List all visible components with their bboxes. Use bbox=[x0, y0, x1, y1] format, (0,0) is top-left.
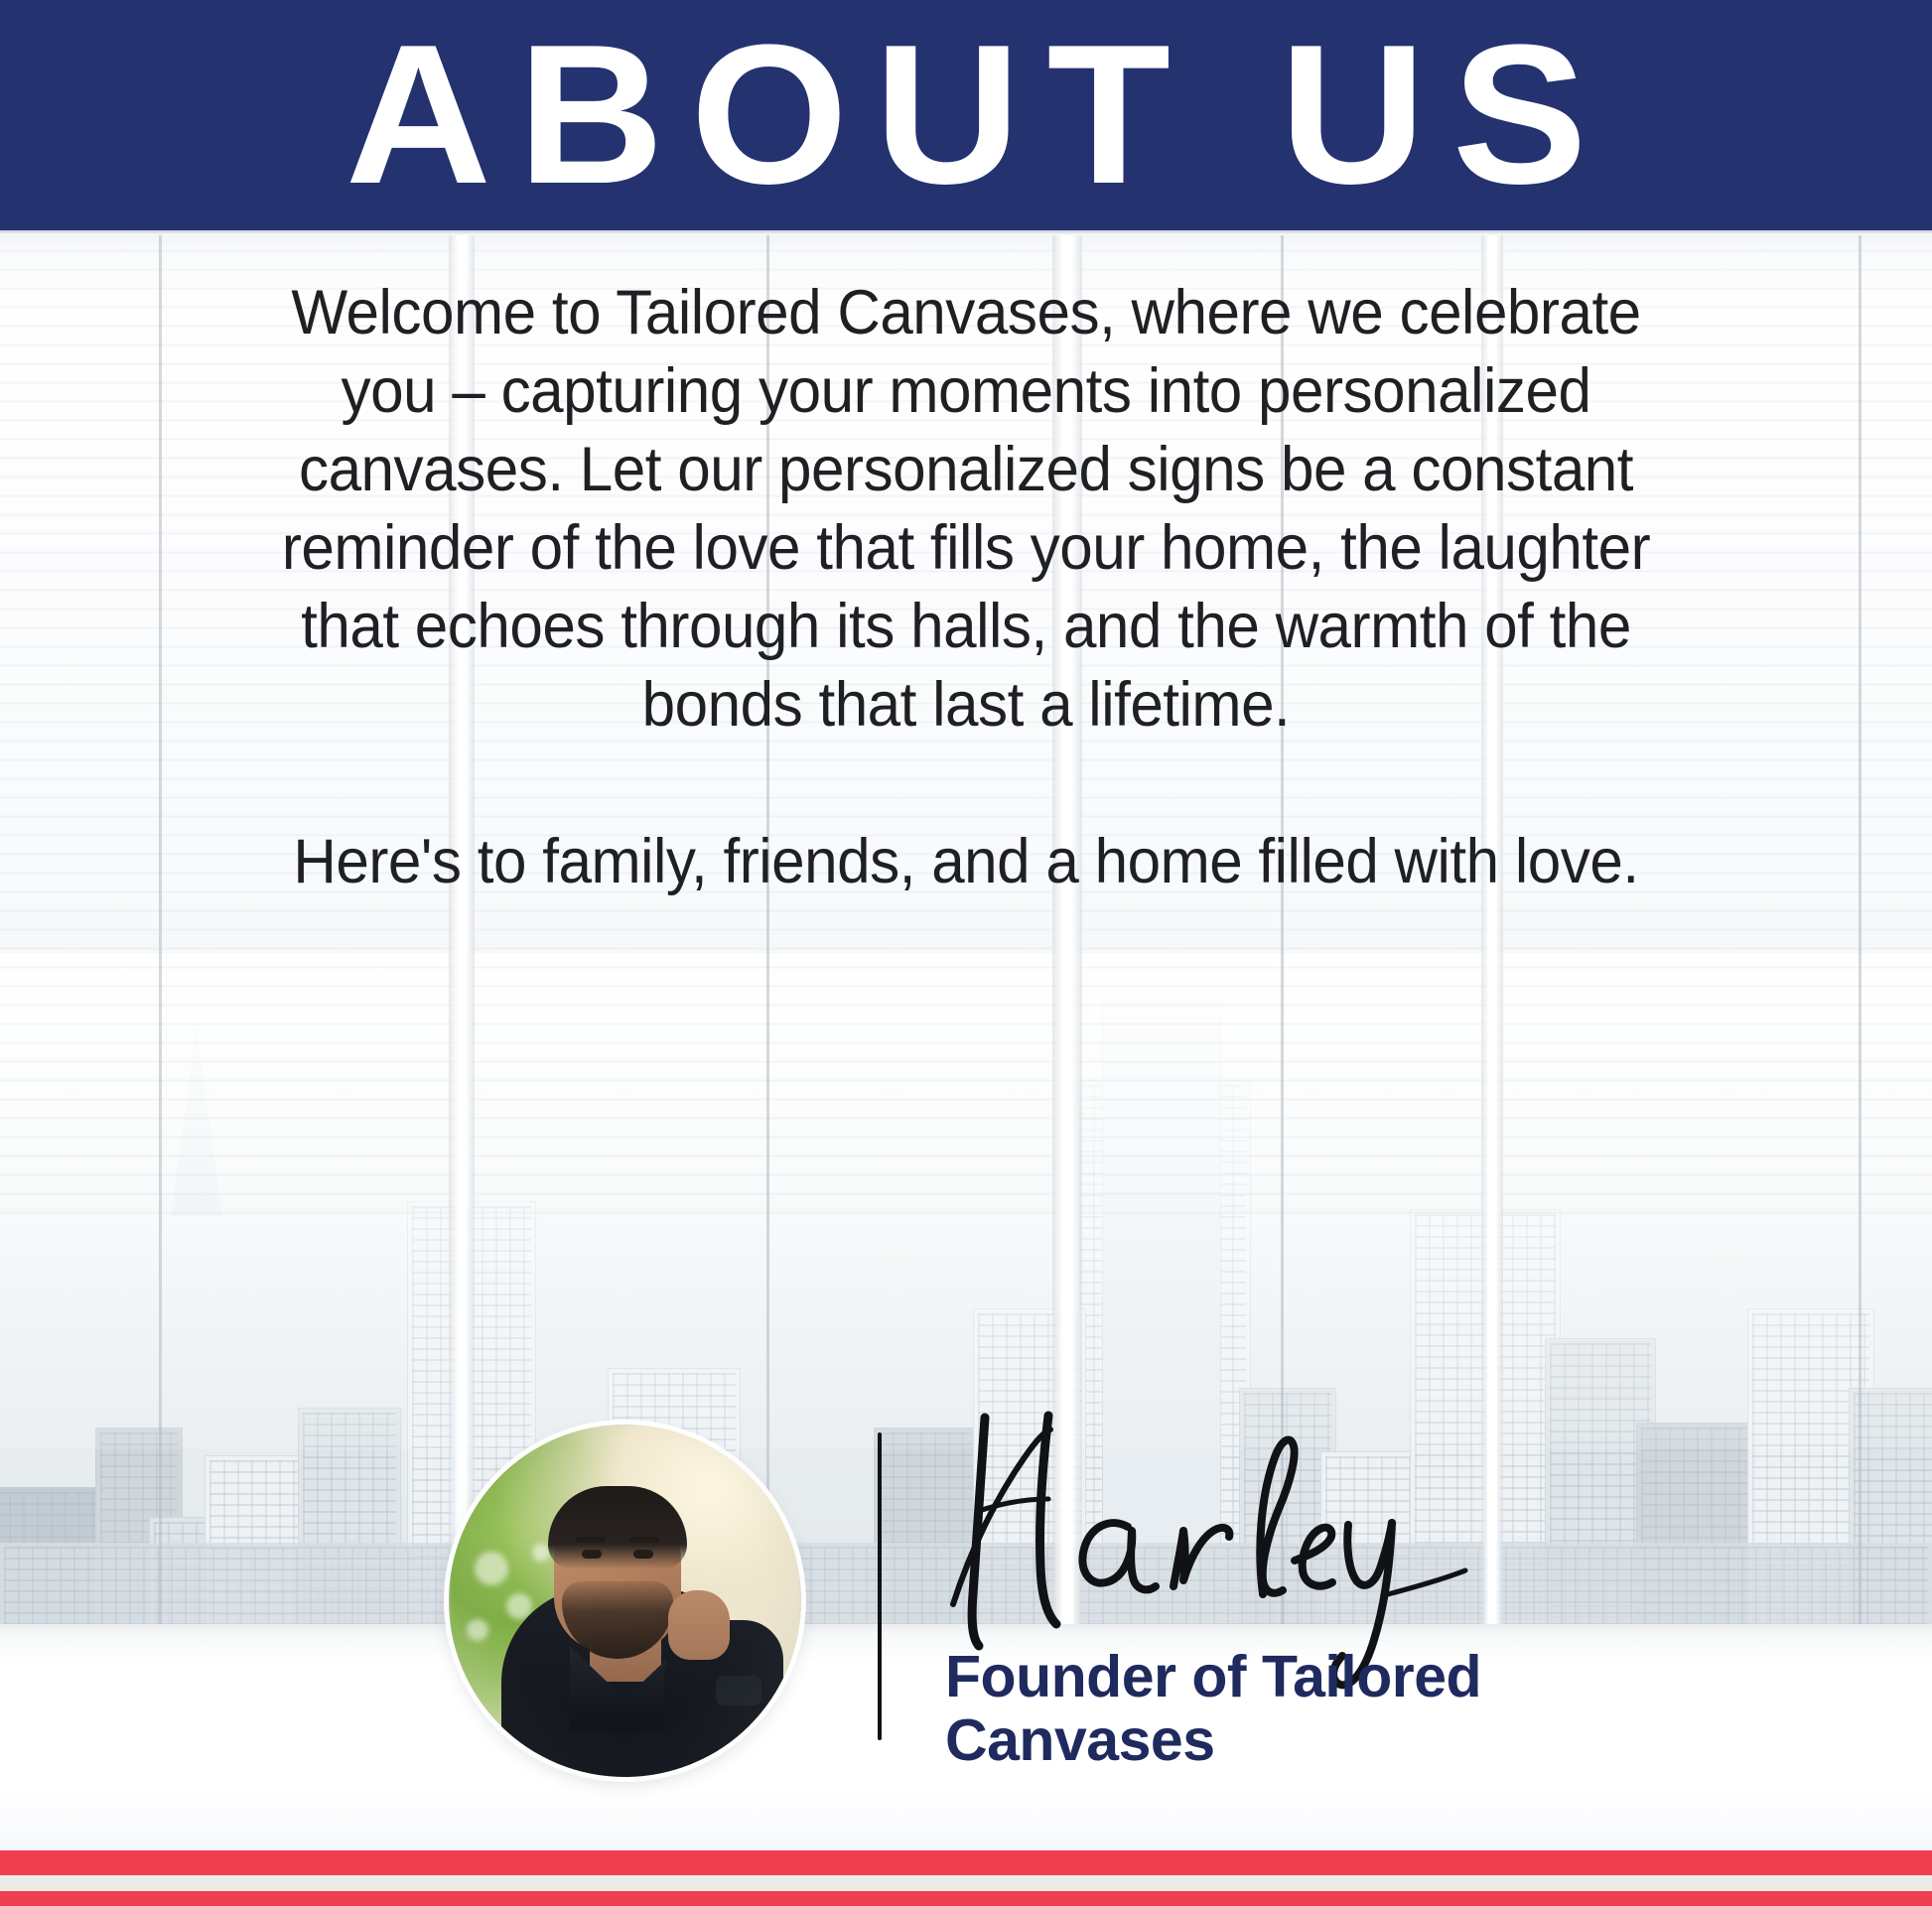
paragraph-spacer bbox=[254, 745, 1678, 823]
founder-title: Founder of Tailored Canvases bbox=[945, 1645, 1581, 1772]
header-edge bbox=[0, 230, 1932, 235]
founder-title-line-2: Canvases bbox=[945, 1708, 1581, 1772]
page-title: ABOUT US bbox=[319, 16, 1613, 214]
avatar-vignette bbox=[449, 1425, 801, 1777]
signature-divider bbox=[878, 1432, 882, 1740]
footer-rule-bottom bbox=[0, 1891, 1932, 1906]
footer-rule-top bbox=[0, 1850, 1932, 1875]
window-frame-line bbox=[1859, 185, 1862, 1634]
footer-rule-gap bbox=[0, 1875, 1932, 1891]
header-band: ABOUT US bbox=[0, 0, 1932, 230]
avatar bbox=[449, 1425, 801, 1777]
about-body-copy: Welcome to Tailored Canvases, where we c… bbox=[254, 274, 1678, 901]
paragraph-1: Welcome to Tailored Canvases, where we c… bbox=[254, 274, 1678, 745]
founder-title-line-1: Founder of Tailored bbox=[945, 1645, 1581, 1708]
window-frame-line bbox=[159, 185, 162, 1634]
about-us-poster: ABOUT US Welcome to Tailored Canvases, w… bbox=[0, 0, 1932, 1906]
paragraph-2: Here's to family, friends, and a home fi… bbox=[254, 823, 1678, 901]
